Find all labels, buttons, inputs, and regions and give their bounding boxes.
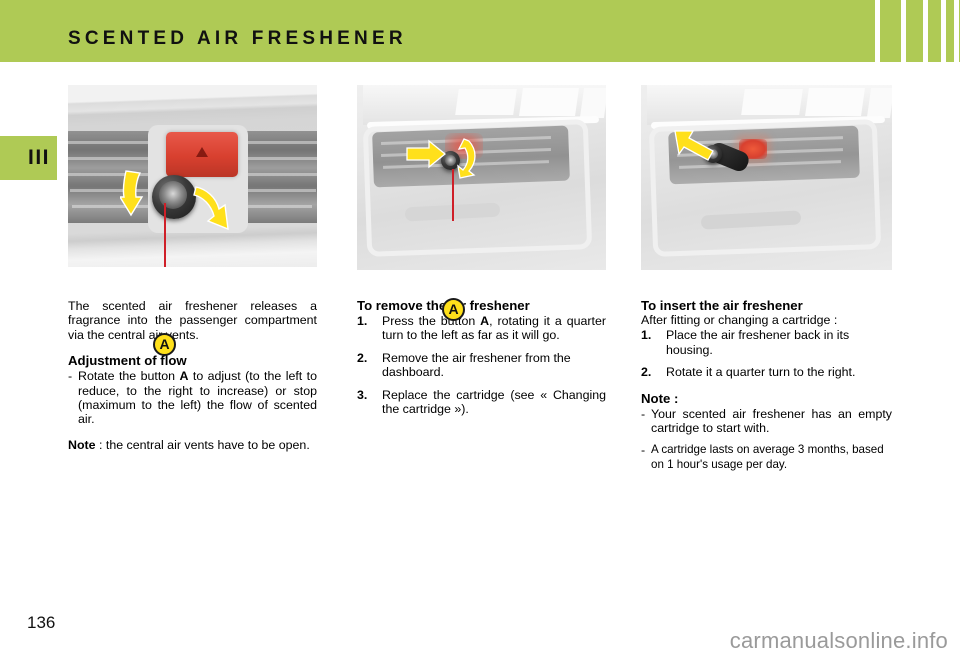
step-text: Remove the air freshener from the dashbo…	[382, 351, 606, 380]
column-one: A The scented air freshener releases a f…	[68, 85, 317, 452]
column-two: A To remove the air freshener 1. Press t…	[357, 85, 606, 416]
hazard-warning-button	[166, 132, 238, 177]
to-remove-heading: To remove the air freshener	[357, 298, 606, 313]
quarter-turn-left-arrow	[457, 137, 491, 179]
step-number: 1.	[641, 328, 666, 342]
windscreen-pane-1	[455, 89, 517, 115]
page-title: SCENTED AIR FRESHENER	[68, 28, 407, 50]
bullet-marker: -	[68, 369, 78, 383]
remove-step-2: 2. Remove the air freshener from the das…	[357, 351, 606, 380]
windscreen-pane-3	[580, 88, 606, 118]
header-stripe-decoration	[853, 0, 960, 62]
insert-step-2: 2. Rotate it a quarter turn to the right…	[641, 365, 892, 379]
chapter-tab: III	[0, 136, 57, 180]
page-number: 136	[27, 613, 55, 633]
note-text: A cartridge lasts on average 3 months, b…	[651, 443, 892, 472]
column-two-body: To remove the air freshener 1. Press the…	[357, 298, 606, 416]
windscreen-pane-2	[805, 88, 865, 116]
step-text: Place the air freshener back in its hous…	[666, 328, 892, 357]
adjustment-bullet: - Rotate the button A to adjust (to the …	[68, 369, 317, 427]
note-paragraph: Note : the central air vents have to be …	[68, 438, 317, 452]
button-label-a: A	[480, 314, 489, 328]
note-text: Your scented air freshener has an empty …	[651, 407, 892, 436]
callout-leader-line	[164, 203, 166, 267]
windscreen-pane-2	[519, 88, 579, 116]
figure-central-air-vent-knob	[68, 85, 317, 267]
figure-air-freshener-remove	[357, 85, 606, 270]
note-label: Note	[68, 438, 96, 452]
column-three: To insert the air freshener After fittin…	[641, 85, 892, 472]
step-text: Press the button A, rotating it a quarte…	[382, 314, 606, 343]
bullet-marker: -	[641, 443, 651, 457]
rotate-left-arrow	[120, 169, 160, 219]
chapter-tab-label: III	[28, 145, 50, 171]
site-watermark: carmanualsonline.info	[730, 628, 948, 654]
step-text: Replace the cartridge (see « Changing th…	[382, 388, 606, 417]
intro-paragraph: The scented air freshener releases a fra…	[68, 299, 317, 342]
bullet-text: Rotate the button A to adjust (to the le…	[78, 369, 317, 427]
step-text: Rotate it a quarter turn to the right.	[666, 365, 892, 379]
note-bullet-1: - Your scented air freshener has an empt…	[641, 407, 892, 436]
note-bullet-2: - A cartridge lasts on average 3 months,…	[641, 443, 892, 472]
callout-a-figure-2: A	[442, 298, 465, 321]
column-three-body: To insert the air freshener After fittin…	[641, 298, 892, 472]
figure-air-freshener-insert	[641, 85, 892, 270]
column-one-body: The scented air freshener releases a fra…	[68, 299, 317, 452]
note-heading: Note :	[641, 391, 892, 406]
windscreen-pane-1	[741, 89, 803, 115]
adjustment-of-flow-heading: Adjustment of flow	[68, 353, 317, 368]
windscreen-pane-3	[867, 88, 892, 118]
step-number: 2.	[357, 351, 382, 365]
rotate-right-arrow	[192, 183, 234, 235]
to-insert-heading: To insert the air freshener	[641, 298, 892, 313]
step-number: 2.	[641, 365, 666, 379]
step-number: 1.	[357, 314, 382, 328]
insert-arrow	[673, 127, 721, 163]
callout-a-figure-1: A	[153, 333, 176, 356]
insert-step-1: 1. Place the air freshener back in its h…	[641, 328, 892, 357]
callout-leader-line-2	[452, 169, 454, 221]
press-arrow	[405, 139, 447, 169]
remove-step-1: 1. Press the button A, rotating it a qua…	[357, 314, 606, 343]
step-number: 3.	[357, 388, 382, 402]
remove-step-3: 3. Replace the cartridge (see « Changing…	[357, 388, 606, 417]
insert-intro: After fitting or changing a cartridge :	[641, 313, 892, 327]
bullet-marker: -	[641, 407, 651, 421]
